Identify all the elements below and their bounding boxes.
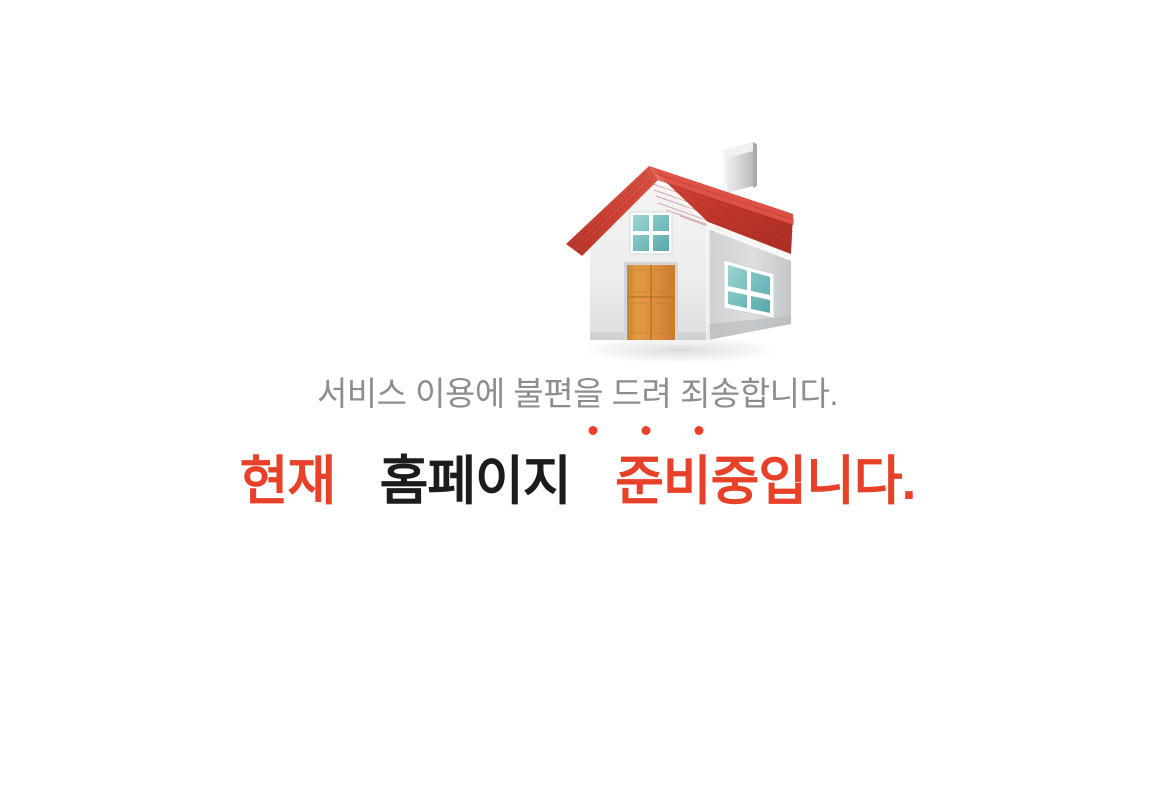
status-segment-current: 현재 [240, 452, 336, 511]
decorative-dot-2 [641, 426, 650, 435]
decorative-dot-3 [694, 426, 703, 435]
status-segment-preparing: 준비중입니다. [615, 452, 915, 511]
apology-text: 서비스 이용에 불편을 드려 죄송합니다. [0, 372, 1155, 416]
status-segment-homepage: 홈페이지 [380, 452, 571, 511]
house-corner-edge [706, 222, 710, 340]
house-icon [548, 128, 808, 368]
front-door [624, 262, 678, 340]
status-text: 현재 홈페이지 준비중입니다. [0, 450, 1155, 514]
page-root: 서비스 이용에 불편을 드려 죄송합니다. 현재 홈페이지 준비중입니다. [0, 0, 1155, 799]
dots-row [0, 426, 1155, 446]
house-illustration [548, 128, 808, 368]
attic-window [630, 212, 672, 254]
decorative-dot-1 [588, 426, 597, 435]
message-block: 서비스 이용에 불편을 드려 죄송합니다. 현재 홈페이지 준비중입니다. [0, 372, 1155, 514]
